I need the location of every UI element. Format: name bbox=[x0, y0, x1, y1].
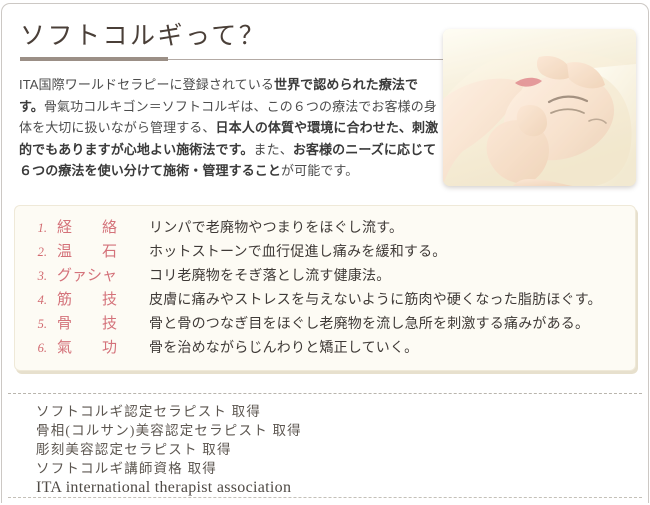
therapy-number: 4. bbox=[25, 288, 51, 312]
therapy-row: 2.温 石ホットストーンで血行促進し痛みを緩和する。 bbox=[25, 240, 629, 264]
separator-top bbox=[8, 393, 642, 394]
therapy-row: 3.グァシャコリ老廃物をそぎ落とし流す健康法。 bbox=[25, 264, 629, 288]
therapy-name: 温 石 bbox=[51, 240, 149, 264]
therapy-description: 骨と骨のつなぎ目をほぐし老廃物を流し急所を刺激する痛みがある。 bbox=[149, 313, 589, 337]
therapy-row: 1.経 絡リンパで老廃物やつまりをほぐし流す。 bbox=[25, 216, 629, 240]
therapy-name: 筋 技 bbox=[51, 288, 149, 312]
credentials-list: ソフトコルギ認定セラピスト 取得骨相(コルサン)美容認定セラピスト 取得彫刻美容… bbox=[36, 402, 596, 498]
credential-item: 彫刻美容認定セラピスト 取得 bbox=[36, 440, 596, 459]
intro-segment-6: が可能です。 bbox=[281, 163, 358, 178]
therapy-description: 皮膚に痛みやストレスを与えないように筋肉や硬くなった脂肪ほぐす。 bbox=[149, 289, 602, 313]
therapy-row: 6.氣 功骨を治めながらじんわりと矯正していく。 bbox=[25, 336, 629, 360]
title-rule-thick bbox=[20, 57, 168, 61]
therapy-description: リンパで老廃物やつまりをほぐし流す。 bbox=[149, 217, 403, 241]
title-block: ソフトコルギって？ bbox=[20, 22, 460, 52]
therapy-number: 1. bbox=[25, 216, 51, 240]
page-title: ソフトコルギって？ bbox=[20, 22, 460, 52]
therapy-name: 骨 技 bbox=[51, 312, 149, 336]
therapy-number: 5. bbox=[25, 312, 51, 336]
therapy-list: 1.経 絡リンパで老廃物やつまりをほぐし流す。2.温 石ホットストーンで血行促進… bbox=[25, 216, 629, 360]
intro-segment-0: ITA国際ワールドセラピーに登録されている bbox=[19, 77, 274, 92]
therapy-name: グァシャ bbox=[51, 264, 149, 288]
therapy-row: 5.骨 技骨と骨のつなぎ目をほぐし老廃物を流し急所を刺激する痛みがある。 bbox=[25, 312, 629, 336]
treatment-photo bbox=[443, 29, 636, 186]
therapy-list-box: 1.経 絡リンパで老廃物やつまりをほぐし流す。2.温 石ホットストーンで血行促進… bbox=[14, 205, 636, 371]
therapy-number: 3. bbox=[25, 264, 51, 288]
credential-item: ソフトコルギ認定セラピスト 取得 bbox=[36, 402, 596, 421]
intro-paragraph: ITA国際ワールドセラピーに登録されている世界で認められた療法です。骨氣功コルキ… bbox=[19, 74, 439, 182]
credential-item: ITA international therapist association bbox=[36, 478, 596, 498]
therapy-row: 4.筋 技皮膚に痛みやストレスを与えないように筋肉や硬くなった脂肪ほぐす。 bbox=[25, 288, 629, 312]
page-root: ソフトコルギって？ ITA国際ワールドセラピーに登録されている世界で認められた療… bbox=[0, 0, 650, 505]
therapy-name: 経 絡 bbox=[51, 216, 149, 240]
credential-item: ソフトコルギ講師資格 取得 bbox=[36, 459, 596, 478]
therapy-number: 6. bbox=[25, 336, 51, 360]
credential-item: 骨相(コルサン)美容認定セラピスト 取得 bbox=[36, 421, 596, 440]
therapy-description: コリ老廃物をそぎ落とし流す健康法。 bbox=[149, 265, 390, 289]
therapy-description: 骨を治めながらじんわりと矯正していく。 bbox=[149, 337, 418, 361]
therapy-number: 2. bbox=[25, 240, 51, 264]
therapy-name: 氣 功 bbox=[51, 336, 149, 360]
separator-bottom bbox=[8, 497, 642, 498]
intro-segment-4: また、 bbox=[254, 142, 293, 157]
therapy-description: ホットストーンで血行促進し痛みを緩和する。 bbox=[149, 241, 447, 265]
